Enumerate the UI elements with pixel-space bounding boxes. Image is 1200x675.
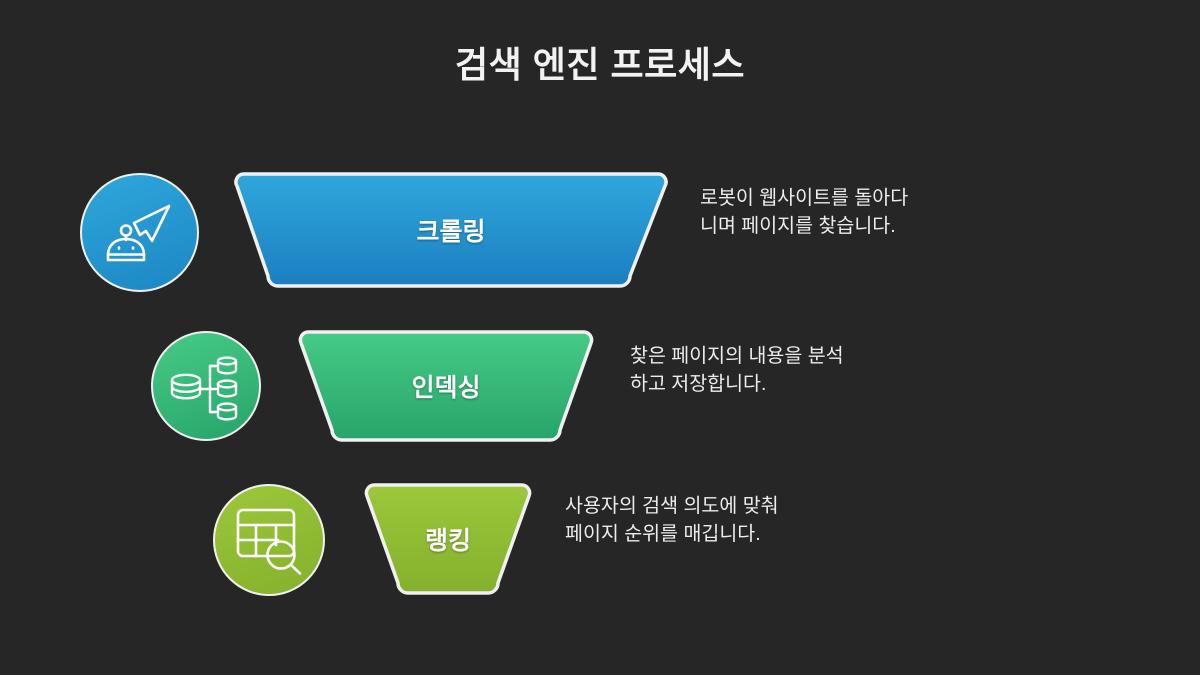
slide-canvas: 검색 엔진 프로세스	[0, 0, 1200, 675]
stage-crawling-icon-circle[interactable]	[80, 173, 199, 292]
stage-crawling-funnel[interactable]: 크롤링	[232, 170, 670, 290]
stage-indexing-description: 찾은 페이지의 내용을 분석 하고 저장합니다.	[630, 342, 920, 399]
stage-ranking-description: 사용자의 검색 의도에 맞춰 페이지 순위를 매깁니다.	[565, 492, 865, 549]
stage-crawling-description: 로봇이 웹사이트를 돌아다 니며 페이지를 찾습니다.	[700, 184, 990, 241]
stage-ranking-icon-circle[interactable]	[213, 484, 325, 596]
page-title: 검색 엔진 프로세스	[0, 36, 1200, 88]
robot-cursor-icon	[99, 192, 181, 274]
table-search-icon	[230, 501, 308, 579]
stage-indexing-icon-circle[interactable]	[151, 331, 261, 441]
stage-ranking-funnel[interactable]: 랭킹	[362, 481, 534, 597]
database-tree-icon	[168, 348, 244, 424]
stage-indexing-funnel[interactable]: 인덱싱	[296, 328, 596, 444]
